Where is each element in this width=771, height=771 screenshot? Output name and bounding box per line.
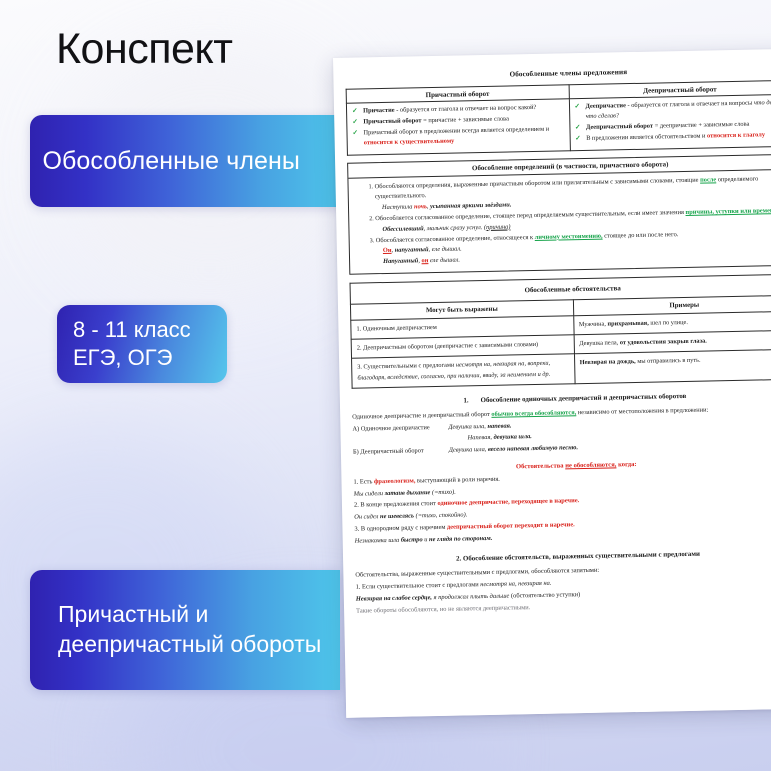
badge-topic-label: Причастный и деепричастный обороты — [58, 600, 340, 660]
table-row: Причастие - образуется от глагола и отве… — [346, 94, 771, 155]
badge-grade: 8 - 11 класс ЕГЭ, ОГЭ — [57, 305, 227, 383]
definitions-box-body: Обособляются определения, выраженные при… — [348, 170, 771, 274]
document-sheet-wrapper: Обособленные члены предложения Причастны… — [333, 49, 771, 718]
badge-topic: Причастный и деепричастный обороты — [30, 570, 340, 690]
slide-canvas: Конспект Обособленные члены 8 - 11 класс… — [0, 0, 771, 771]
section-one-title: Обособление одиночных деепричастий и дее… — [481, 393, 687, 404]
document-sheet: Обособленные члены предложения Причастны… — [333, 49, 771, 718]
document-title: Обособленные члены предложения — [345, 65, 771, 82]
section-one-number: 1. — [463, 397, 468, 404]
cell-participle-rules: Причастие - образуется от глагола и отве… — [346, 99, 569, 155]
section-one-heading: 1.Обособление одиночных деепричастий и д… — [352, 390, 771, 406]
cell-expressed: 3. Существительными с предлогами несмотр… — [352, 354, 575, 388]
heading-part-a: Обстоятельства — [516, 462, 565, 470]
cell-example: Невзирая на дождь, мы отправились в путь… — [574, 350, 771, 384]
cell-gerund-rules: Деепричастие - образуется от глагола и о… — [569, 94, 771, 150]
lead-text-a: Одиночное деепричастие и деепричастный о… — [352, 411, 491, 421]
definitions-box: Обособление определений (в частности, пр… — [347, 154, 771, 275]
badge-grade-label: 8 - 11 класс ЕГЭ, ОГЭ — [73, 316, 227, 372]
left-panel: Конспект Обособленные члены 8 - 11 класс… — [0, 0, 340, 771]
list-item: Причастный оборот в предложении всегда я… — [351, 124, 565, 149]
page-title: Конспект — [56, 27, 232, 72]
table-circumstances: Обособленные обстоятельства Могут быть в… — [350, 274, 771, 389]
badge-subject-label: Обособленные члены — [30, 145, 300, 178]
section-two-heading: 2. Обособление обстоятельств, выраженных… — [355, 549, 771, 565]
heading-part-underline: не обособляются, — [565, 461, 616, 469]
lead-text-b: независимо от местоположения в предложен… — [576, 406, 708, 416]
heading-part-b: когда: — [616, 461, 636, 468]
table-turnovers: Причастный оборот Деепричастный оборот П… — [346, 80, 771, 156]
badge-subject: Обособленные члены — [30, 115, 340, 207]
sheet-bottom-fade — [346, 682, 771, 717]
lead-highlight: обычно всегда обособляются, — [491, 409, 576, 418]
